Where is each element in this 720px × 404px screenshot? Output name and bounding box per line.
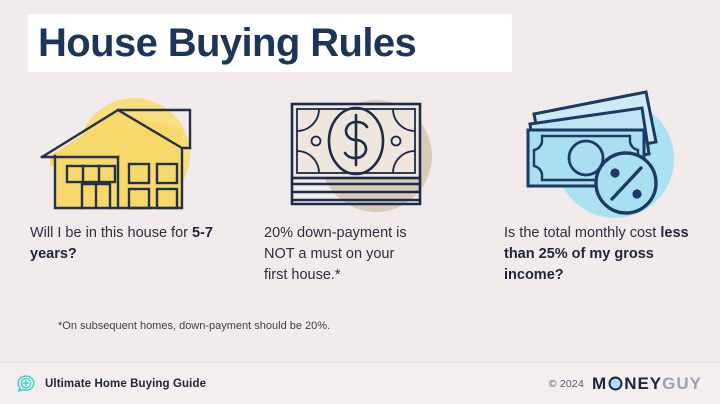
footer-bar: Ultimate Home Buying Guide © 2024 M NEY … (0, 362, 720, 404)
rule-column-monthly-cost: Is the total monthly cost less than 25% … (480, 86, 720, 306)
footer-guide-link[interactable]: Ultimate Home Buying Guide (16, 374, 206, 394)
footer-brand: © 2024 M NEY GUY (549, 374, 702, 394)
caption-line-2: NOT a must on your (264, 246, 394, 262)
caption-line-1: 20% down-payment is (264, 225, 407, 241)
copyright-text: © 2024 (549, 378, 584, 390)
infographic-root: House Buying Rules (0, 0, 720, 404)
logo-o-mark (608, 376, 623, 391)
logo-money-m: M (592, 374, 607, 394)
logo-guy: GUY (662, 374, 702, 394)
page-title: House Buying Rules (28, 21, 416, 65)
rules-columns: Will I be in this house for 5-7 years? (0, 86, 720, 306)
footer-guide-label: Ultimate Home Buying Guide (45, 378, 206, 390)
dollar-bill-icon-area (264, 86, 484, 221)
speech-bubble-plus-icon (16, 374, 36, 394)
caption-line-1: Will I be in this house (30, 225, 167, 241)
rule-caption-house: Will I be in this house for 5-7 years? (30, 223, 230, 265)
house-icon-area (30, 86, 250, 221)
moneyguy-logo[interactable]: M NEY GUY (592, 374, 702, 394)
caption-plain-monthly: Is the total monthly cost (504, 225, 660, 241)
footnote: *On subsequent homes, down-payment shoul… (58, 319, 330, 334)
caption-line-2: for (171, 225, 192, 241)
house-icon (30, 86, 230, 221)
rule-column-house: Will I be in this house for 5-7 years? (0, 86, 240, 306)
rule-column-downpayment: 20% down-payment is NOT a must on your f… (240, 86, 480, 306)
banknotes-percent-icon (504, 86, 704, 221)
rule-caption-monthly-cost: Is the total monthly cost less than 25% … (504, 223, 704, 286)
banknotes-percent-icon-area (504, 86, 720, 221)
dollar-bill-icon (264, 86, 464, 221)
title-band: House Buying Rules (28, 14, 512, 72)
percent-badge-icon (596, 153, 656, 213)
caption-line-3: first house.* (264, 267, 341, 283)
logo-money-rest: NEY (624, 374, 662, 394)
rule-caption-downpayment: 20% down-payment is NOT a must on your f… (264, 223, 464, 286)
